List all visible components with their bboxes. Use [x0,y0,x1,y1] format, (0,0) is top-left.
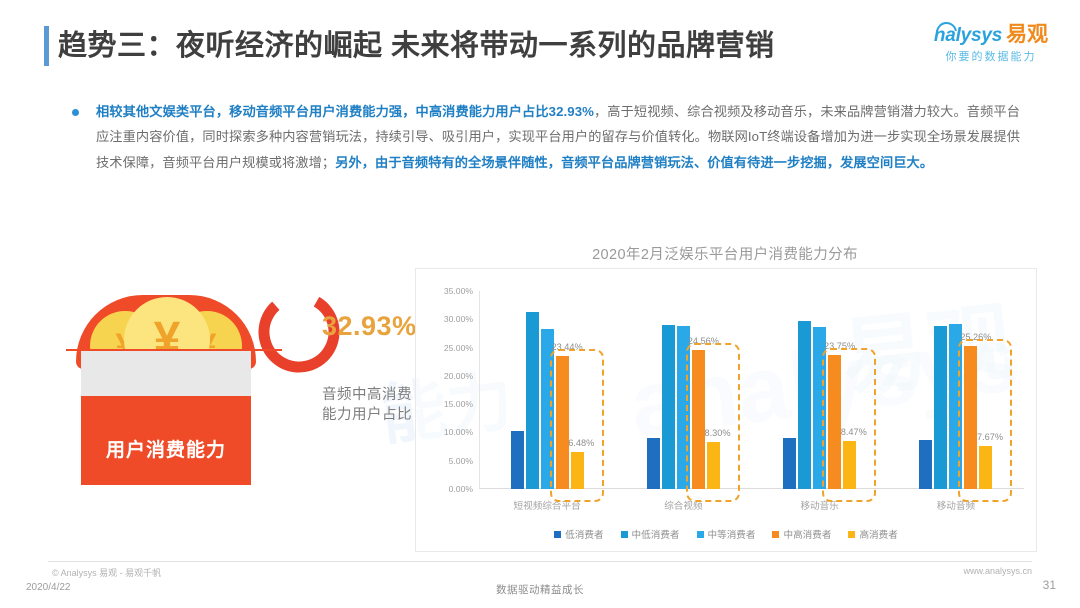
page-title: 趋势三：夜听经济的崛起 未来将带动一系列的品牌营销 [58,26,775,66]
bar-cluster: 24.56%8.30% [615,291,751,489]
y-axis-tick-label: 35.00% [444,286,473,296]
chart-bar [647,438,660,489]
paragraph-highlight-2: 另外，由于音频特有的全场景伴随性，音频平台品牌营销玩法、价值有待进一步挖掘，发展… [335,155,933,170]
chart-bar [919,440,932,489]
y-axis-tick-label: 5.00% [449,456,473,466]
legend-swatch-icon [772,531,779,538]
chart-bar [511,431,524,489]
x-axis-category-label: 移动音乐 [752,498,888,512]
title-accent-bar [44,26,49,66]
legend-item[interactable]: 中等消费者 [697,527,756,541]
legend-item[interactable]: 中低消费者 [621,527,680,541]
leader-line [66,349,282,351]
bag-band [81,350,251,396]
x-axis-category-label: 综合视频 [615,498,751,512]
logo-cn-text: 易观 [1006,23,1048,46]
footer-tagline: 数据驱动精益成长 [0,582,1080,597]
slide-header: 趋势三：夜听经济的崛起 未来将带动一系列的品牌营销 nalysys易观 你要的数… [0,0,1080,86]
bar-value-label: 23.75% [824,341,855,351]
chart-bar: 7.67% [979,446,992,489]
legend-item[interactable]: 中高消费者 [772,527,831,541]
body-paragraph: 相较其他文娱类平台，移动音频平台用户消费能力强，中高消费能力用户占比32.93%… [96,99,1020,175]
bar-cluster: 23.44%6.48% [479,291,615,489]
chart-legend: 低消费者中低消费者中等消费者中高消费者高消费者 [416,527,1036,541]
bar-value-label: 7.67% [977,432,1003,442]
x-axis-category-label: 短视频综合平台 [479,498,615,512]
chart-category-group: 24.56%8.30%综合视频 [615,291,751,489]
footer-url: www.analysys.cn [963,566,1032,576]
legend-swatch-icon [621,531,628,538]
y-axis-tick-label: 0.00% [449,484,473,494]
legend-label: 中等消费者 [708,527,756,541]
logo-tagline: 你要的数据能力 [930,48,1052,64]
y-axis-tick-label: 15.00% [444,399,473,409]
legend-label: 中高消费者 [783,527,831,541]
bar-cluster: 25.26%7.67% [888,291,1024,489]
chart-bar [541,329,554,489]
legend-item[interactable]: 高消费者 [848,527,897,541]
chart-category-group: 23.75%8.47%移动音乐 [752,291,888,489]
y-axis-tick-label: 20.00% [444,371,473,381]
y-axis-tick-label: 25.00% [444,343,473,353]
bar-cluster: 23.75%8.47% [752,291,888,489]
chart-bar [662,325,675,489]
y-axis-tick-label: 10.00% [444,427,473,437]
bar-value-label: 23.44% [552,342,583,352]
analysys-logo: nalysys易观 你要的数据能力 [930,24,1052,70]
bar-value-label: 25.26% [960,332,991,342]
legend-swatch-icon [554,531,561,538]
chart-bar: 25.26% [964,346,977,489]
bar-value-label: 8.47% [841,427,867,437]
percent-caption: 音频中高消费能力用户占比 [322,385,426,425]
legend-label: 高消费者 [859,527,897,541]
x-axis-category-label: 移动音频 [888,498,1024,512]
chart-bar [813,327,826,489]
legend-label: 中低消费者 [632,527,680,541]
money-bag-icon: ¥ ¥ ¥ 用户消费能力 [76,295,256,485]
chart-bar: 24.56% [692,350,705,489]
chart-plot-area: 35.00%30.00%25.00%20.00%15.00%10.00%5.00… [479,291,1024,489]
chart-bar [783,438,796,489]
bullet-icon [72,109,79,116]
paragraph-highlight-1: 相较其他文娱类平台，移动音频平台用户消费能力强，中高消费能力用户占比32.93% [96,104,594,119]
chart-title: 2020年2月泛娱乐平台用户消费能力分布 [415,243,1035,264]
chart-category-group: 23.44%6.48%短视频综合平台 [479,291,615,489]
legend-item[interactable]: 低消费者 [554,527,603,541]
chart-bar: 6.48% [571,452,584,489]
chart-bar [798,321,811,489]
footer-page-number: 31 [1043,578,1056,592]
chart-category-group: 25.26%7.67%移动音频 [888,291,1024,489]
legend-swatch-icon [848,531,855,538]
body-paragraph-block: 相较其他文娱类平台，移动音频平台用户消费能力强，中高消费能力用户占比32.93%… [70,99,1020,175]
percent-value: 32.93% [322,311,417,342]
legend-swatch-icon [697,531,704,538]
bar-value-label: 8.30% [705,428,731,438]
chart-bar [934,326,947,489]
footer-copyright: © Analysys 易观 - 易观千帆 [52,566,161,579]
chart-bar: 23.75% [828,355,841,489]
chart-bar [677,326,690,489]
money-bag-infographic: ¥ ¥ ¥ 用户消费能力 32.93% 音频中高消费能力用户占比 [60,275,400,490]
bag-label: 用户消费能力 [81,435,251,462]
bar-value-label: 6.48% [568,438,594,448]
slide: 观 能力 analysys 易观 趋势三：夜听经济的崛起 未来将带动一系列的品牌… [0,0,1080,608]
chart-container: 35.00%30.00%25.00%20.00%15.00%10.00%5.00… [415,268,1037,552]
legend-label: 低消费者 [565,527,603,541]
y-axis-tick-label: 30.00% [444,314,473,324]
chart-bar [526,312,539,489]
chart-bar: 8.30% [707,442,720,489]
chart-bar: 23.44% [556,356,569,489]
bar-value-label: 24.56% [688,336,719,346]
footer-divider [48,561,1032,562]
chart-bar: 8.47% [843,441,856,489]
chart-bar [949,324,962,489]
